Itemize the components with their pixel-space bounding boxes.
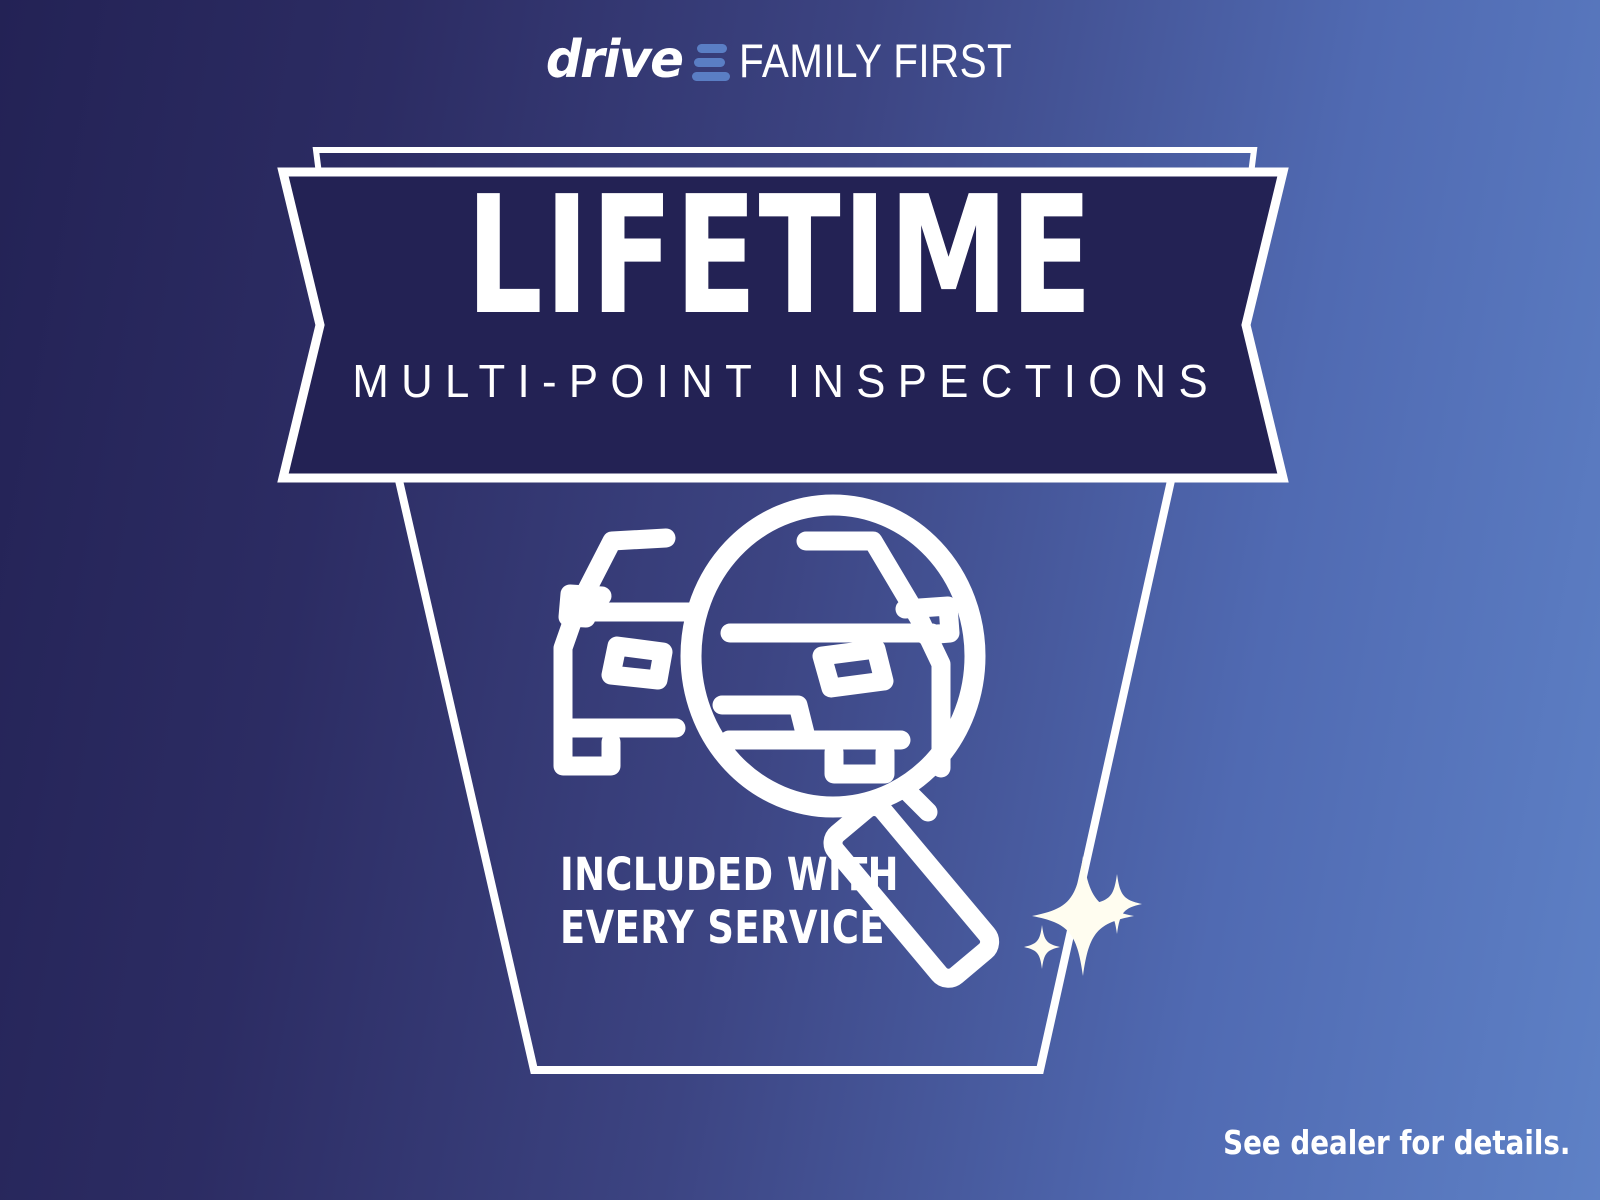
sparkle-small [1024,925,1060,969]
logo-bar-bottom [692,72,730,81]
car-main-grille [722,705,806,737]
banner-text-block: LIFETIME MULTI-POINT INSPECTIONS [300,182,1260,404]
page-title: LIFETIME [425,182,1135,332]
car-main-headlight [822,649,884,688]
three-bars-icon [692,40,730,81]
logo-tagline: FAMILY FIRST [739,37,1012,84]
promo-graphic: drive FAMILY FIRST [0,0,1600,1200]
sparkle-large [1032,856,1134,976]
car-left-roofline [576,538,666,611]
logo-bar-top [697,44,727,53]
car-left-mirror [568,594,602,618]
logo-bar-middle [694,58,725,67]
page-subtitle: MULTI-POINT INSPECTIONS [324,358,1236,404]
brand-logo: drive FAMILY FIRST [0,28,1600,92]
car-main-wheel [834,752,885,774]
car-main-mirror [905,606,950,635]
car-main-roofline [806,541,920,620]
car-left-body [563,611,576,755]
logo-brand-word: drive [546,34,683,86]
car-left-headlight [611,646,663,680]
panel-trapezoid-outline [398,476,1172,1070]
sparkle-medium [1092,874,1142,934]
magnifier-lens [691,505,975,807]
sparkle-stars-icon [1024,856,1142,976]
car-left-wheel [563,742,611,766]
magnifier-neck [903,787,928,812]
car-main-body-right [920,620,941,768]
included-label: INCLUDED WITH EVERY SERVICE [560,848,899,954]
disclaimer-text: See dealer for details. [1223,1123,1570,1162]
